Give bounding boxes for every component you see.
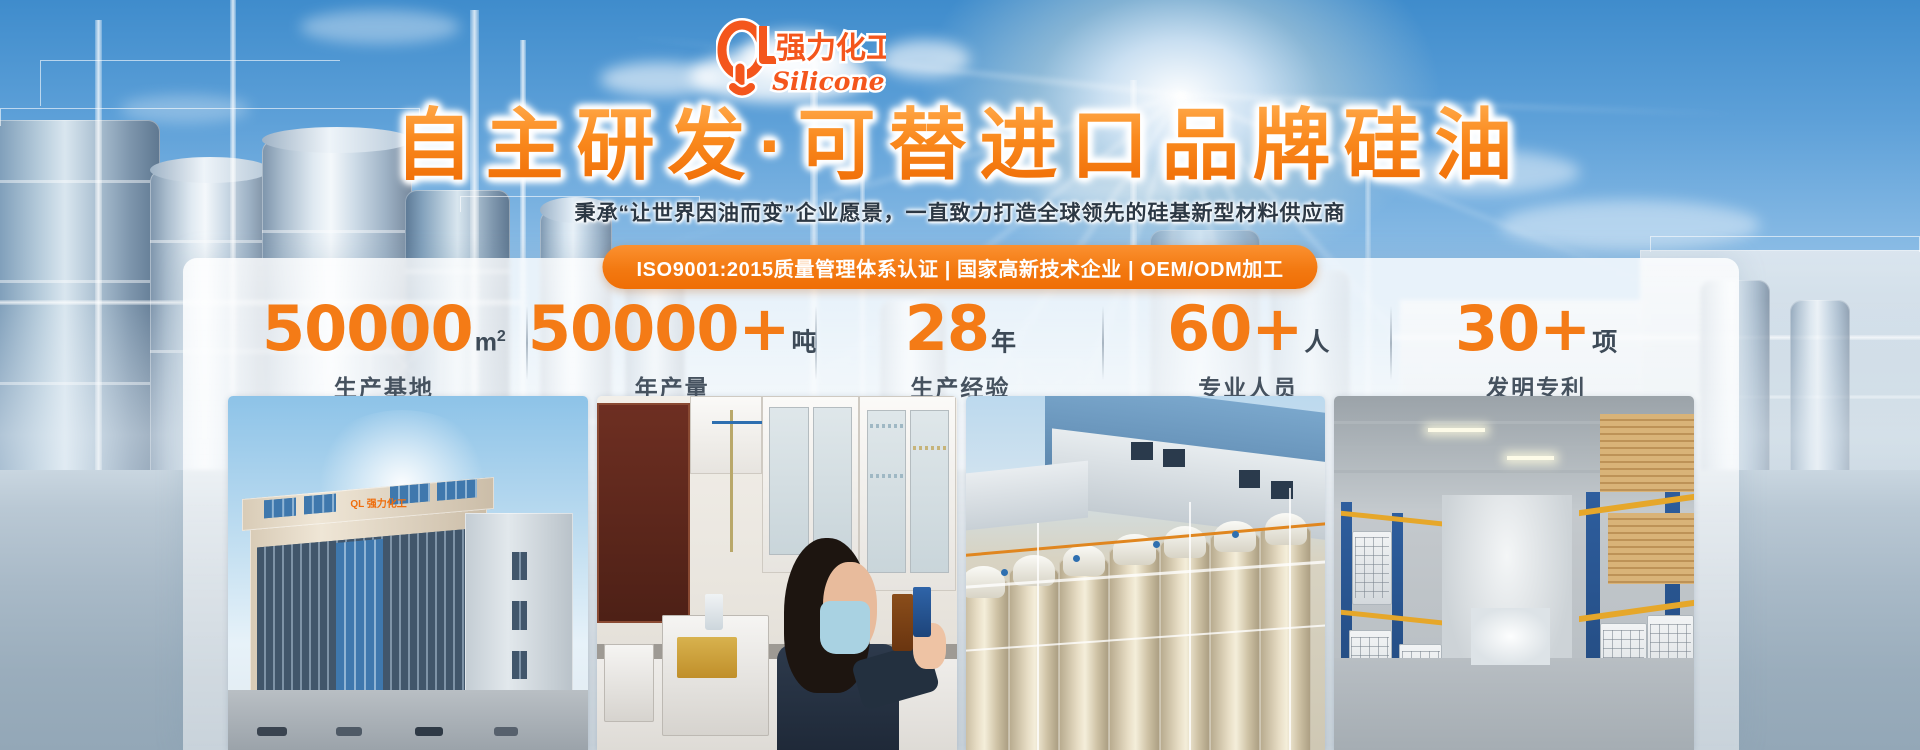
photo-warehouse-storage[interactable] (1334, 396, 1694, 750)
photo-laboratory-technician[interactable] (597, 396, 957, 750)
hero-headline: 自主研发·可替进口品牌硅油 (0, 102, 1920, 188)
stat-number: 60+ (1167, 298, 1302, 360)
stat-item-annual-output: 50000+ 吨 年产量 (528, 298, 817, 403)
photo-office-building[interactable]: QL 强力化工 (228, 396, 588, 750)
stat-item-experience: 28 年 生产经验 (817, 298, 1105, 403)
stat-number: 50000+ (528, 298, 790, 360)
stats-row: 50000 m2 生产基地 50000+ 吨 年产量 28 年 (240, 298, 1680, 396)
stat-item-patents: 30+ 项 发明专利 (1392, 298, 1680, 403)
photo-strip: QL 强力化工 (228, 396, 1694, 750)
logo-subtext: Silicone (772, 67, 885, 96)
promo-banner: 强力化工 强力化工 Silicone Silicone 自主研发·可替进口品牌硅… (0, 0, 1920, 750)
stat-item-production-base: 50000 m2 生产基地 (240, 298, 528, 403)
stat-unit: m2 (475, 324, 506, 360)
stat-number: 28 (905, 298, 989, 360)
stat-unit: 人 (1304, 324, 1329, 360)
logo-name-cn: 强力化工 (776, 31, 886, 66)
stat-unit: 年 (991, 324, 1016, 360)
certification-badge[interactable]: ISO9001:2015质量管理体系认证 | 国家高新技术企业 | OEM/OD… (602, 245, 1317, 289)
stat-number: 30+ (1455, 298, 1590, 360)
hero-subtitle: 秉承“让世界因油而变”企业愿景，一直致力打造全球领先的硅基新型材料供应商 (0, 200, 1920, 228)
stat-unit: 吨 (791, 324, 816, 360)
stat-number: 50000 (262, 298, 473, 360)
stat-unit: 项 (1592, 324, 1617, 360)
company-logo[interactable]: 强力化工 强力化工 Silicone Silicone (716, 18, 886, 98)
photo-reactor-silos[interactable] (966, 396, 1326, 750)
stat-item-professionals: 60+ 人 专业人员 (1104, 298, 1392, 403)
